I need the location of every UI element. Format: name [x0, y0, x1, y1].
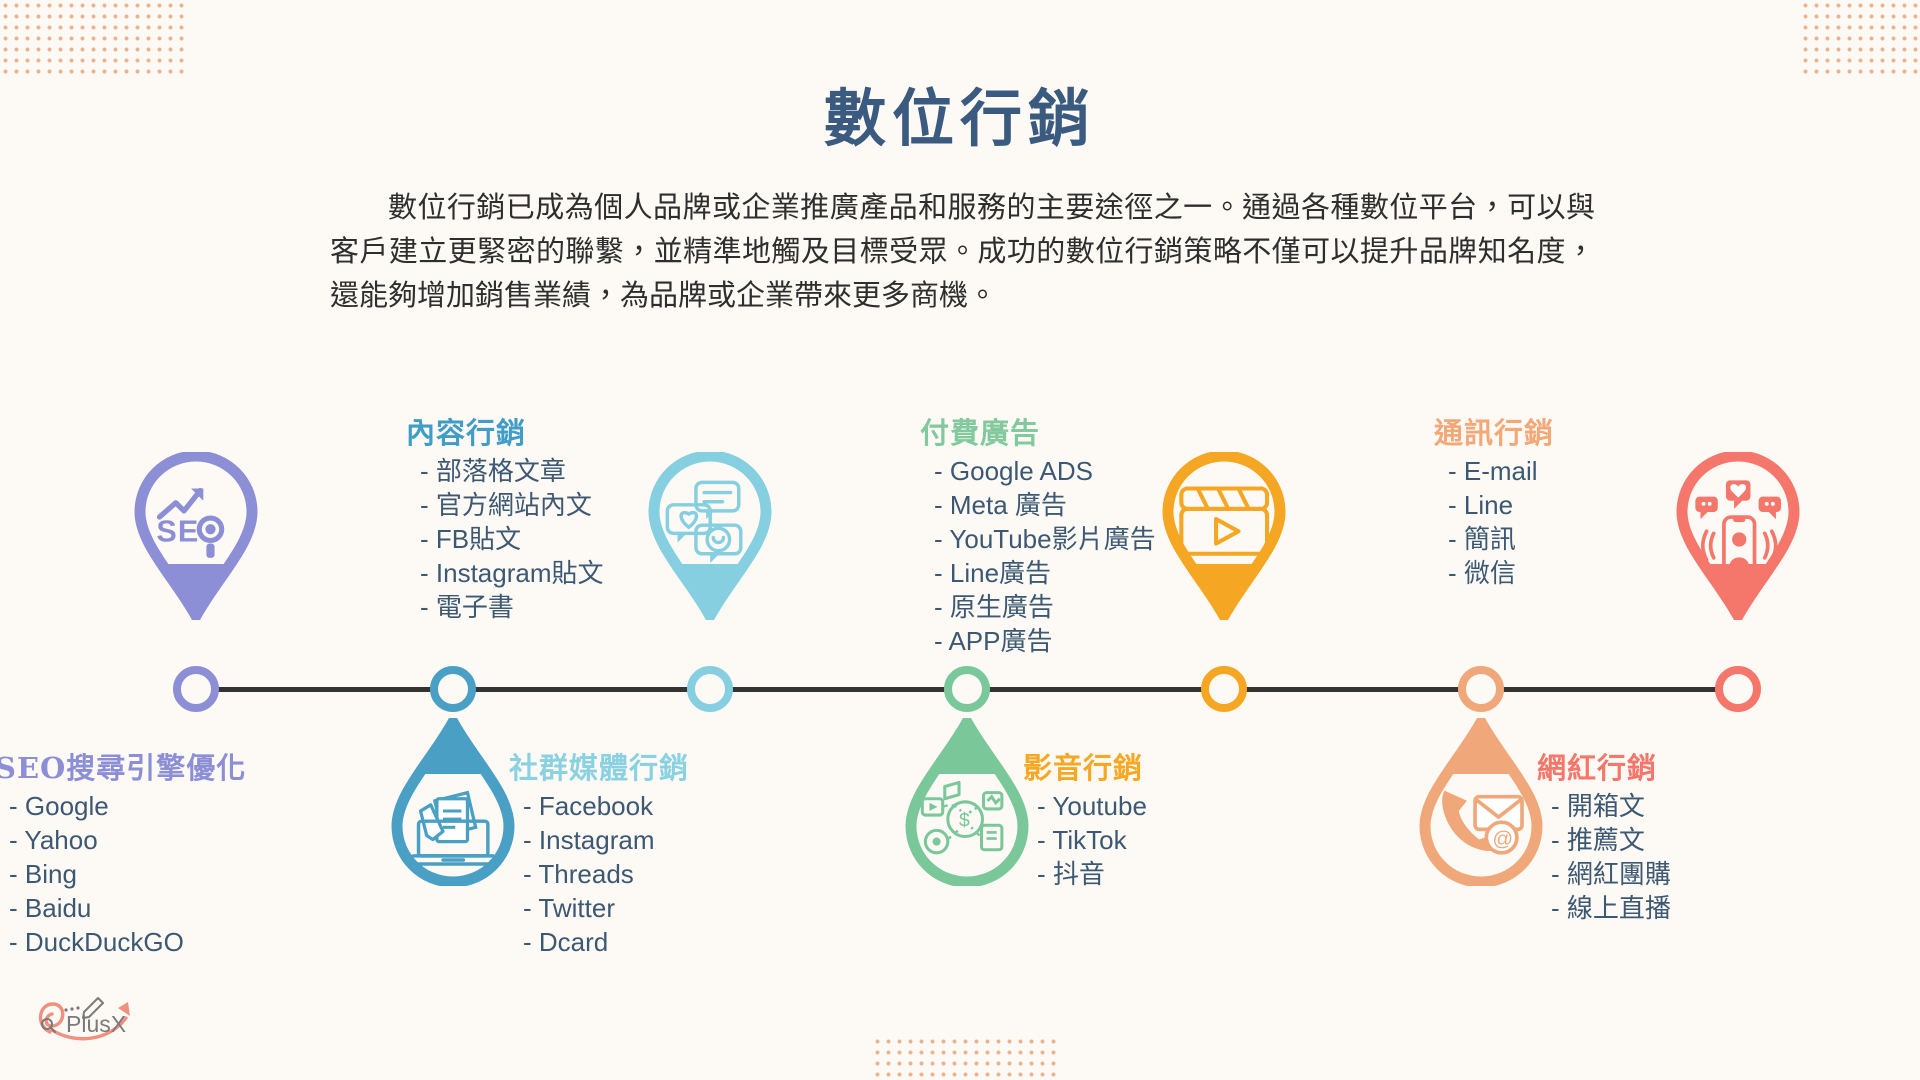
category-item[interactable]: Instagram貼文 [420, 556, 736, 590]
category-title-content: 內容行銷 [406, 410, 736, 452]
seo-magnifier-icon: SE [156, 488, 221, 557]
category-item[interactable]: 簡訊 [1448, 522, 1764, 556]
category-item[interactable]: DuckDuckGO [9, 925, 325, 959]
category-column-seo: SEO搜尋引擎優化 GoogleYahooBingBaiduDuckDuckGO [0, 745, 325, 959]
category-item[interactable]: 推薦文 [1551, 823, 1867, 857]
timeline-node-seo[interactable] [173, 666, 219, 712]
category-item[interactable]: Dcard [523, 925, 839, 959]
timeline-node-social[interactable] [687, 666, 733, 712]
category-list-paid-ads: Google ADSMeta 廣告YouTube影片廣告Line廣告原生廣告AP… [920, 454, 1250, 658]
category-title-paid-ads: 付費廣告 [920, 410, 1250, 452]
category-column-social: 社群媒體行銷 FacebookInstagramThreadsTwitterDc… [509, 745, 839, 959]
category-item[interactable]: Threads [523, 857, 839, 891]
category-item[interactable]: Twitter [523, 891, 839, 925]
intro-paragraph: 數位行銷已成為個人品牌或企業推廣產品和服務的主要途徑之一。通過各種數位平台，可以… [330, 185, 1595, 317]
category-item[interactable]: 網紅團購 [1551, 857, 1867, 891]
category-item[interactable]: 開箱文 [1551, 789, 1867, 823]
category-item[interactable]: Yahoo [9, 823, 325, 857]
logo-text: PlusX [66, 1011, 126, 1037]
category-item[interactable]: Facebook [523, 789, 839, 823]
category-column-messaging: 通訊行銷 E-mailLine簡訊微信 [1434, 410, 1764, 590]
category-title-messaging: 通訊行銷 [1434, 410, 1764, 452]
dot-pattern-top-right [1800, 0, 1920, 78]
category-item[interactable]: YouTube影片廣告 [934, 522, 1250, 556]
plusx-logo: PlusX [22, 980, 162, 1052]
map-pin-seo[interactable]: SE [127, 452, 265, 620]
category-title-social: 社群媒體行銷 [509, 745, 839, 787]
category-list-video: YoutubeTikTok抖音 [1023, 789, 1353, 891]
svg-text:SE: SE [156, 515, 199, 549]
category-column-paid-ads: 付費廣告 Google ADSMeta 廣告YouTube影片廣告Line廣告原… [920, 410, 1250, 658]
category-item[interactable]: 電子書 [420, 590, 736, 624]
category-item[interactable]: 原生廣告 [934, 590, 1250, 624]
timeline-node-paid-ads[interactable] [944, 666, 990, 712]
category-item[interactable]: Instagram [523, 823, 839, 857]
category-item[interactable]: Youtube [1037, 789, 1353, 823]
category-title-video: 影音行銷 [1023, 745, 1353, 787]
category-item[interactable]: 線上直播 [1551, 891, 1867, 925]
timeline-node-video[interactable] [1201, 666, 1247, 712]
category-list-seo: GoogleYahooBingBaiduDuckDuckGO [0, 789, 325, 959]
category-item[interactable]: Line [1448, 488, 1764, 522]
category-column-video: 影音行銷 YoutubeTikTok抖音 [1023, 745, 1353, 891]
category-item[interactable]: Meta 廣告 [934, 488, 1250, 522]
timeline-node-influencer[interactable] [1715, 666, 1761, 712]
category-list-influencer: 開箱文推薦文網紅團購線上直播 [1537, 789, 1867, 925]
teardrop-paid-ads[interactable]: $ [898, 718, 1036, 886]
category-item[interactable]: 部落格文章 [420, 454, 736, 488]
category-item[interactable]: E-mail [1448, 454, 1764, 488]
timeline-node-content[interactable] [430, 666, 476, 712]
phone-email-icon: @ [1442, 791, 1522, 853]
svg-text:@: @ [1492, 829, 1513, 851]
category-title-influencer: 網紅行銷 [1537, 745, 1867, 787]
category-list-content: 部落格文章官方網站內文FB貼文Instagram貼文電子書 [406, 454, 736, 624]
laptop-document-pencil-icon [410, 793, 496, 864]
timeline-node-messaging[interactable] [1458, 666, 1504, 712]
teardrop-content[interactable] [384, 718, 522, 886]
page-title: 數位行銷 [0, 68, 1920, 158]
ads-network-icon: $ [922, 782, 1002, 852]
category-item[interactable]: 抖音 [1037, 857, 1353, 891]
category-item[interactable]: Google ADS [934, 454, 1250, 488]
category-column-influencer: 網紅行銷 開箱文推薦文網紅團購線上直播 [1537, 745, 1867, 925]
category-item[interactable]: APP廣告 [934, 624, 1250, 658]
teardrop-messaging[interactable]: @ [1412, 718, 1550, 886]
category-title-seo: SEO搜尋引擎優化 [0, 745, 325, 787]
svg-text:$: $ [959, 809, 970, 831]
category-item[interactable]: Bing [9, 857, 325, 891]
category-list-social: FacebookInstagramThreadsTwitterDcard [509, 789, 839, 959]
dot-pattern-top-left [0, 0, 190, 78]
category-item[interactable]: 微信 [1448, 556, 1764, 590]
category-column-content: 內容行銷 部落格文章官方網站內文FB貼文Instagram貼文電子書 [406, 410, 736, 624]
category-item[interactable]: FB貼文 [420, 522, 736, 556]
dot-pattern-bottom-center [872, 1036, 1062, 1080]
category-item[interactable]: Google [9, 789, 325, 823]
category-list-messaging: E-mailLine簡訊微信 [1434, 454, 1764, 590]
category-item[interactable]: Baidu [9, 891, 325, 925]
category-item[interactable]: Line廣告 [934, 556, 1250, 590]
category-item[interactable]: TikTok [1037, 823, 1353, 857]
category-item[interactable]: 官方網站內文 [420, 488, 736, 522]
